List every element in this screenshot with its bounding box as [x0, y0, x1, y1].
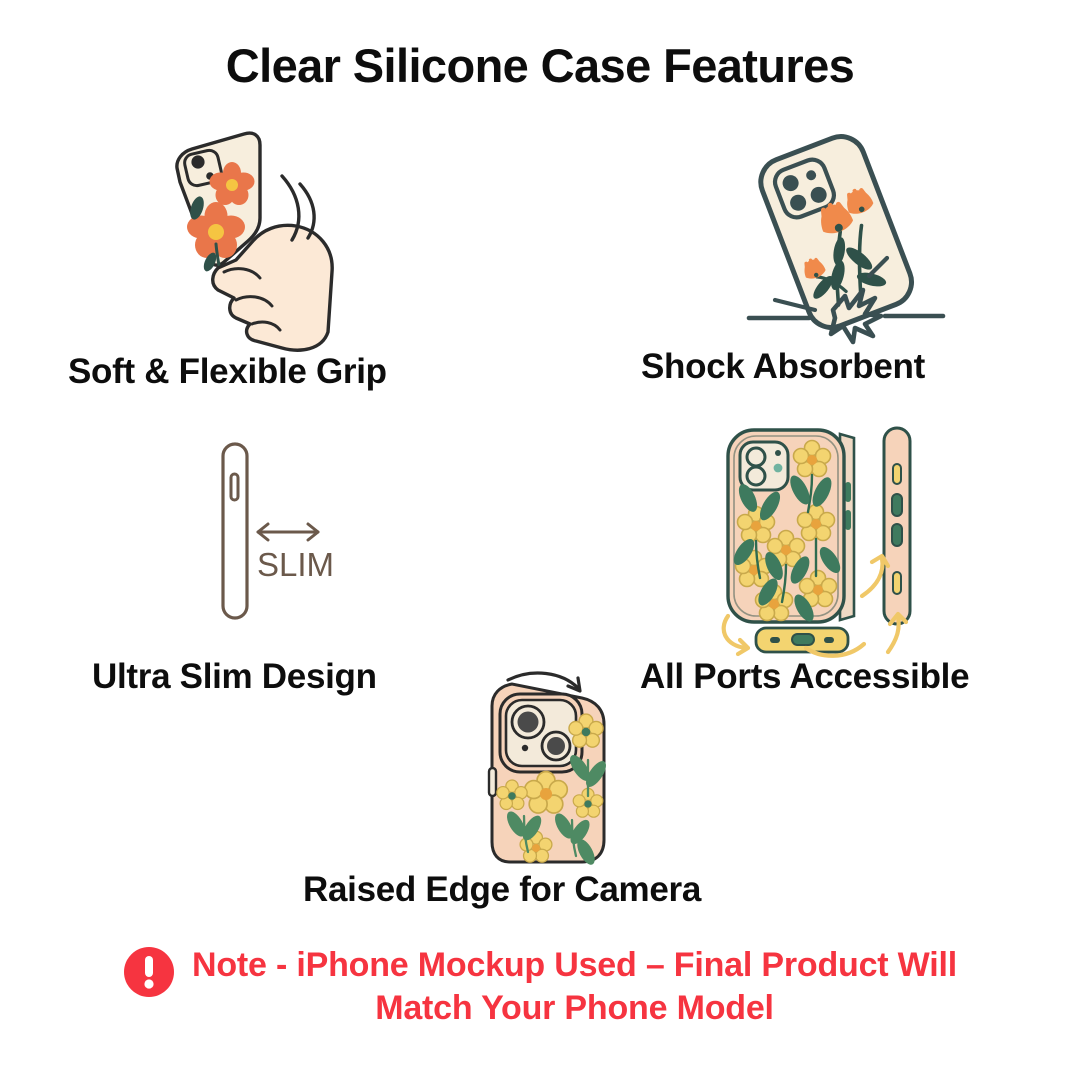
feature-label-raised-edge-camera: Raised Edge for Camera — [303, 870, 701, 910]
feature-label-shock-absorbent: Shock Absorbent — [641, 347, 925, 387]
phone-side-profile-slim-icon — [223, 444, 318, 618]
feature-label-ultra-slim-design: Ultra Slim Design — [92, 657, 377, 697]
phone-side-profile — [884, 428, 910, 624]
phone-raised-camera-bump-icon — [489, 673, 610, 867]
note-line-2: Match Your Phone Model — [192, 987, 957, 1030]
phone-impact-burst-icon — [749, 130, 943, 342]
all-ports-accessible-illustration — [712, 420, 946, 665]
shock-absorbent-illustration — [737, 124, 953, 349]
hand-flexing-phone-case-icon — [177, 133, 332, 350]
note-text: Note - iPhone Mockup Used – Final Produc… — [192, 944, 957, 1030]
exclamation-circle-icon — [123, 946, 175, 1003]
feature-label-all-ports-accessible: All Ports Accessible — [640, 657, 969, 697]
ultra-slim-design-illustration: SLIM — [196, 436, 368, 626]
note-banner: Note - iPhone Mockup Used – Final Produc… — [0, 944, 1080, 1030]
feature-label-soft-flexible-grip: Soft & Flexible Grip — [68, 352, 387, 392]
soft-flexible-grip-illustration — [132, 122, 394, 354]
slim-callout-text: SLIM — [257, 546, 334, 583]
phone-ports-arrows-icon — [724, 428, 910, 656]
note-line-1: Note - iPhone Mockup Used – Final Produc… — [192, 944, 957, 987]
raised-edge-camera-illustration — [470, 672, 630, 862]
page-title: Clear Silicone Case Features — [0, 38, 1080, 93]
product-feature-infographic: Clear Silicone Case Features — [0, 0, 1080, 1080]
